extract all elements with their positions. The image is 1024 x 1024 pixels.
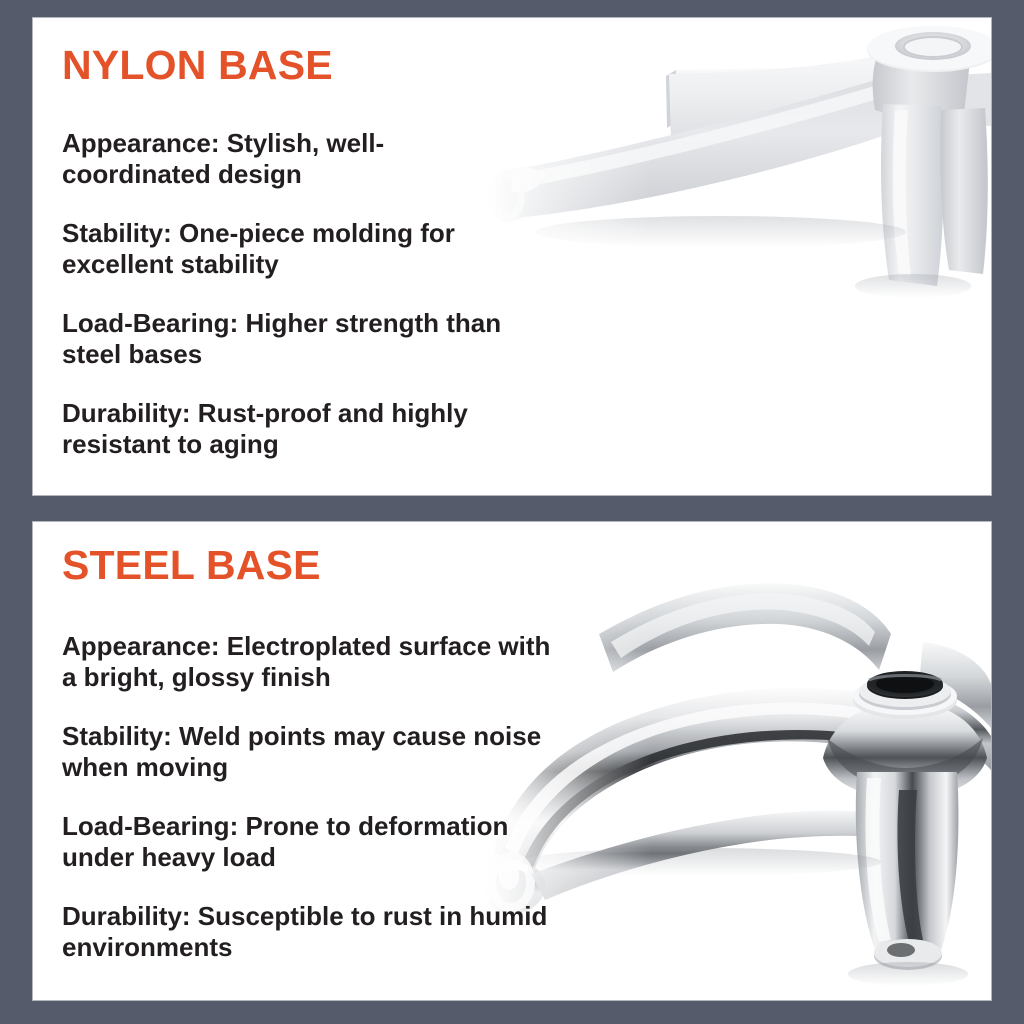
feature-appearance: Appearance: Electroplated surface with a…	[62, 631, 562, 693]
comparison-infographic: NYLON BASE Appearance: Stylish, well-coo…	[0, 0, 1024, 1024]
feature-durability: Durability: Susceptible to rust in humid…	[62, 901, 562, 963]
feature-stability: Stability: Weld points may cause noise w…	[62, 721, 562, 783]
panel-steel-base: STEEL BASE Appearance: Electroplated sur…	[33, 522, 991, 1000]
panel-nylon-base: NYLON BASE Appearance: Stylish, well-coo…	[33, 18, 991, 495]
feature-stability: Stability: One-piece molding for excelle…	[62, 218, 532, 280]
feature-appearance: Appearance: Stylish, well-coordinated de…	[62, 128, 532, 190]
panel-title-nylon: NYLON BASE	[62, 45, 582, 86]
nylon-text-column: NYLON BASE Appearance: Stylish, well-coo…	[62, 18, 582, 495]
steel-feature-list: Appearance: Electroplated surface with a…	[62, 631, 582, 963]
feature-load-bearing: Load-Bearing: Prone to deformation under…	[62, 811, 562, 873]
steel-text-column: STEEL BASE Appearance: Electroplated sur…	[62, 522, 582, 1000]
nylon-feature-list: Appearance: Stylish, well-coordinated de…	[62, 128, 582, 460]
panel-title-steel: STEEL BASE	[62, 545, 582, 586]
feature-durability: Durability: Rust-proof and highly resist…	[62, 398, 532, 460]
feature-load-bearing: Load-Bearing: Higher strength than steel…	[62, 308, 532, 370]
